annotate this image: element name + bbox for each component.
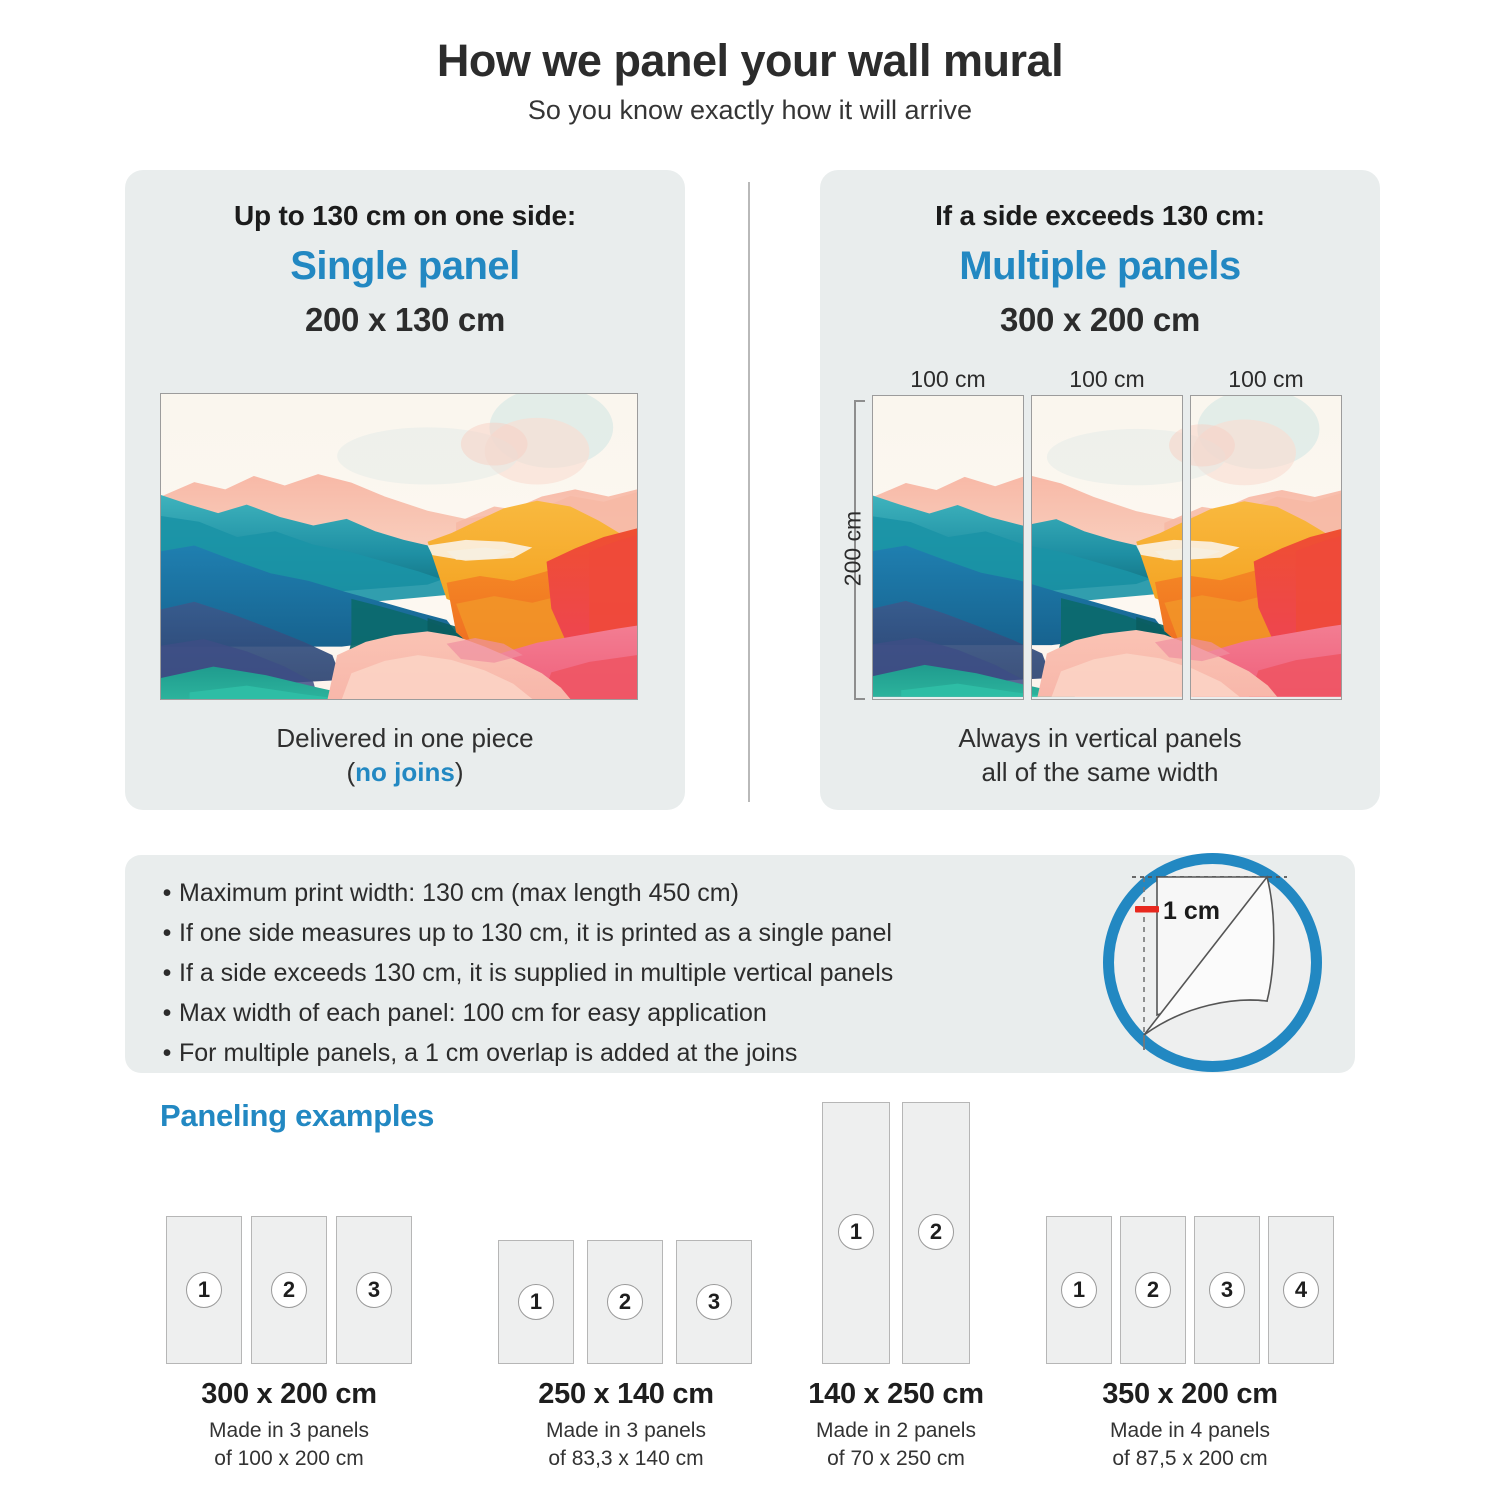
bullet-icon: • [155, 879, 179, 907]
overlap-marker [1135, 906, 1159, 913]
single-panel-artwork [160, 393, 638, 700]
example-4-caption: 350 x 200 cm Made in 4 panels of 87,5 x … [1030, 1378, 1350, 1474]
panel-number-badge: 1 [518, 1284, 554, 1320]
panel-number-badge: 2 [1135, 1272, 1171, 1308]
multiple-note: Always in vertical panels all of the sam… [820, 722, 1380, 790]
example-1-caption: 300 x 200 cm Made in 3 panels of 100 x 2… [129, 1378, 449, 1474]
single-condition-label: Up to 130 cm on one side: [125, 200, 685, 232]
example-made-line2: of 100 x 200 cm [129, 1445, 449, 1473]
bullet-icon: • [155, 919, 179, 947]
card-divider [748, 182, 750, 802]
single-panel-card: Up to 130 cm on one side: Single panel 2… [125, 170, 685, 810]
bullet-icon: • [155, 1039, 179, 1067]
page-header: How we panel your wall mural So you know… [0, 36, 1500, 125]
panel-number-badge: 3 [1209, 1272, 1245, 1308]
single-note-line2: (no joins) [125, 756, 685, 790]
single-note: Delivered in one piece (no joins) [125, 722, 685, 790]
rule-item: • Max width of each panel: 100 cm for ea… [155, 999, 893, 1027]
panel-strip-group [872, 395, 1342, 700]
example-4-panels: 1 2 3 4 [1046, 1216, 1334, 1364]
example-1-panels: 1 2 3 [166, 1216, 412, 1364]
rule-item: • If one side measures up to 130 cm, it … [155, 919, 893, 947]
panel-number-badge: 1 [186, 1272, 222, 1308]
example-size: 350 x 200 cm [1030, 1378, 1350, 1411]
example-made-line1: Made in 2 panels [736, 1417, 1056, 1445]
single-note-line1: Delivered in one piece [125, 722, 685, 756]
example-made-line1: Made in 3 panels [129, 1417, 449, 1445]
multiple-note-line1: Always in vertical panels [820, 722, 1380, 756]
bullet-icon: • [155, 999, 179, 1027]
panel-height-label: 200 cm [840, 489, 867, 609]
rules-list: • Maximum print width: 130 cm (max lengt… [155, 879, 893, 1079]
multiple-size-label: 300 x 200 cm [820, 301, 1380, 339]
paren-close: ) [455, 757, 464, 787]
panel-width-label-2: 100 cm [1031, 366, 1183, 393]
rule-text: If one side measures up to 130 cm, it is… [179, 919, 892, 947]
example-size: 300 x 200 cm [129, 1378, 449, 1411]
infographic-page: How we panel your wall mural So you know… [0, 0, 1500, 1500]
page-subtitle: So you know exactly how it will arrive [0, 96, 1500, 126]
mural-panel-1 [872, 395, 1024, 700]
multiple-condition-label: If a side exceeds 130 cm: [820, 200, 1380, 232]
no-joins-highlight: no joins [355, 757, 455, 787]
rule-text: If a side exceeds 130 cm, it is supplied… [179, 959, 893, 987]
panel-number-badge: 3 [696, 1284, 732, 1320]
example-made-line2: of 87,5 x 200 cm [1030, 1445, 1350, 1473]
mural-panel-3 [1190, 395, 1342, 700]
example-made-line2: of 70 x 250 cm [736, 1445, 1056, 1473]
panel-number-badge: 3 [356, 1272, 392, 1308]
example-made: Made in 3 panels of 100 x 200 cm [129, 1417, 449, 1474]
example-made-line1: Made in 4 panels [1030, 1417, 1350, 1445]
example-2-panels: 1 2 3 [498, 1240, 754, 1364]
panel-number-badge: 4 [1283, 1272, 1319, 1308]
bullet-icon: • [155, 959, 179, 987]
rule-text: Maximum print width: 130 cm (max length … [179, 879, 739, 907]
page-title: How we panel your wall mural [0, 36, 1500, 86]
panel-width-label-1: 100 cm [872, 366, 1024, 393]
multiple-panels-card: If a side exceeds 130 cm: Multiple panel… [820, 170, 1380, 810]
rule-item: • If a side exceeds 130 cm, it is suppli… [155, 959, 893, 987]
rule-item: • For multiple panels, a 1 cm overlap is… [155, 1039, 893, 1067]
example-made: Made in 2 panels of 70 x 250 cm [736, 1417, 1056, 1474]
panel-number-badge: 2 [271, 1272, 307, 1308]
multiple-kind-label: Multiple panels [820, 244, 1380, 289]
panel-number-badge: 2 [607, 1284, 643, 1320]
panel-number-badge: 1 [838, 1214, 874, 1250]
example-made: Made in 4 panels of 87,5 x 200 cm [1030, 1417, 1350, 1474]
example-3-panels: 1 2 [822, 1102, 970, 1364]
examples-title: Paneling examples [160, 1098, 434, 1134]
overlap-label: 1 cm [1163, 897, 1220, 925]
rule-text: Max width of each panel: 100 cm for easy… [179, 999, 767, 1027]
single-kind-label: Single panel [125, 244, 685, 289]
single-size-label: 200 x 130 cm [125, 301, 685, 339]
panel-number-badge: 1 [1061, 1272, 1097, 1308]
paren-open: ( [346, 757, 355, 787]
multiple-note-line2: all of the same width [820, 756, 1380, 790]
rule-text: For multiple panels, a 1 cm overlap is a… [179, 1039, 797, 1067]
mural-panel-2 [1031, 395, 1183, 700]
example-size: 140 x 250 cm [736, 1378, 1056, 1411]
rule-item: • Maximum print width: 130 cm (max lengt… [155, 879, 893, 907]
example-3-caption: 140 x 250 cm Made in 2 panels of 70 x 25… [736, 1378, 1056, 1474]
panel-width-label-3: 100 cm [1190, 366, 1342, 393]
panel-number-badge: 2 [918, 1214, 954, 1250]
overlap-detail-diagram: 1 cm [1095, 845, 1330, 1080]
